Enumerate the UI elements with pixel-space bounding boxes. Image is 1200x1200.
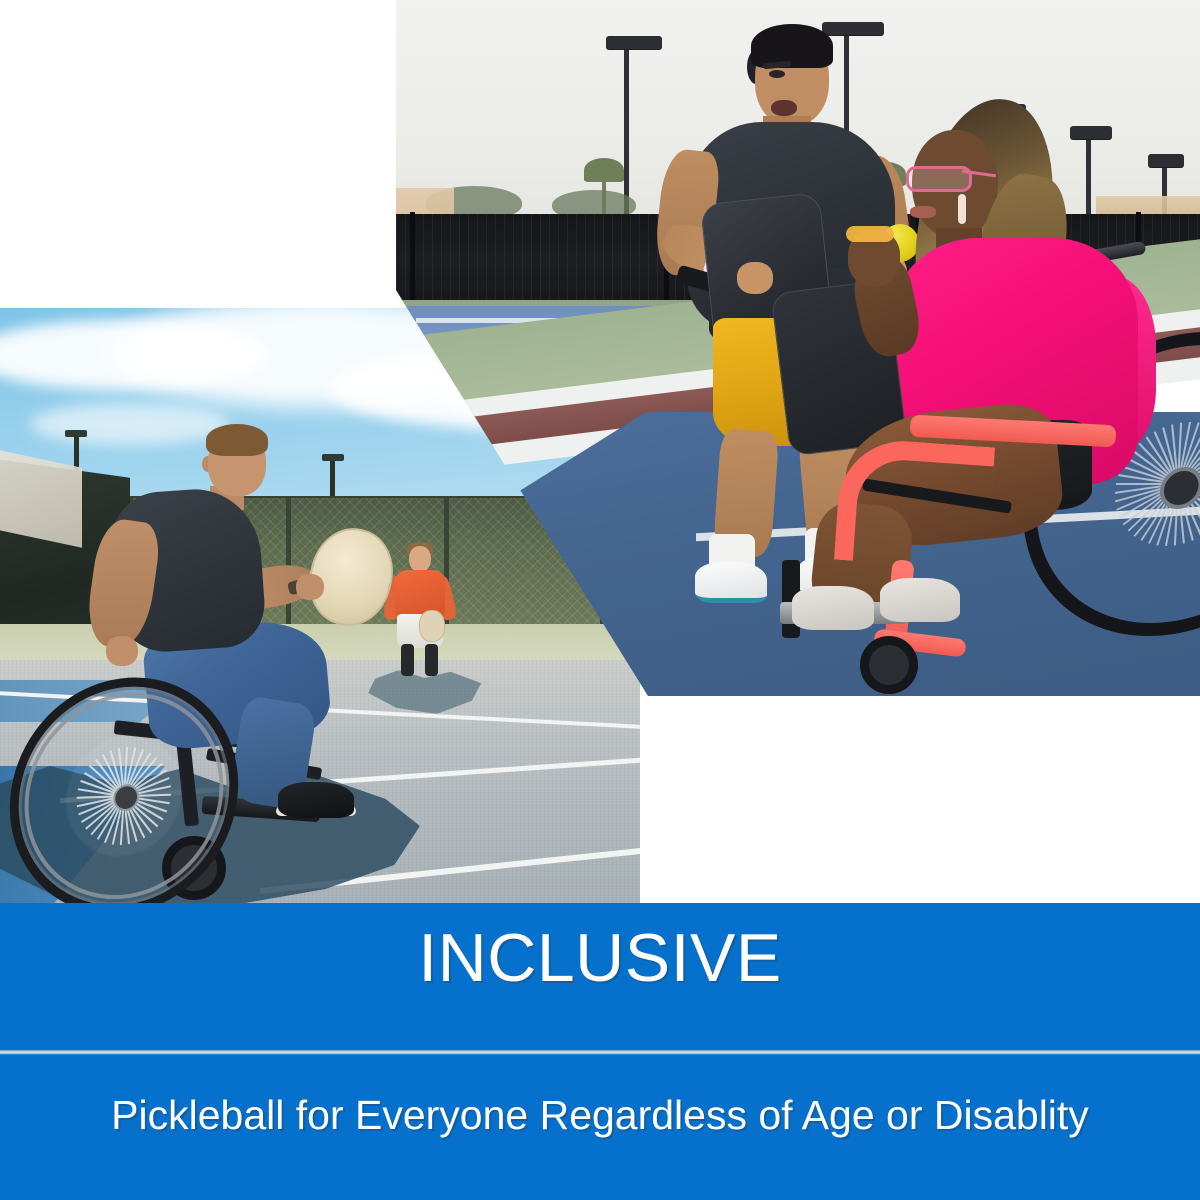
hand-right [296,574,324,600]
leg-right [425,644,438,676]
fingernails [846,226,894,242]
banner-divider [0,1049,1200,1055]
hair [206,424,268,456]
shoe [278,782,354,818]
hand-left [106,636,138,666]
castor-wheel [860,636,918,694]
opponent-player [385,546,455,676]
head [409,546,431,572]
hand-left [737,262,773,294]
banner-subtitle: Pickleball for Everyone Regardless of Ag… [0,1092,1200,1139]
poster-canvas: INCLUSIVE Pickleball for Everyone Regard… [0,0,1200,1200]
shoe-right [880,578,960,622]
banner-title: INCLUSIVE [0,919,1200,997]
leg-left [401,644,414,676]
eye [769,70,785,78]
shoe-left [792,586,874,630]
paddle [419,610,445,642]
shoe-left [695,562,767,603]
mouth [910,206,936,218]
mouth [771,100,797,116]
caption-banner: INCLUSIVE Pickleball for Everyone Regard… [0,903,1200,1200]
left-wheelchair-player [60,428,370,828]
wheelchair-player [866,90,1200,696]
earring [958,194,966,224]
palm-fronds [584,158,624,182]
hair [751,24,833,68]
